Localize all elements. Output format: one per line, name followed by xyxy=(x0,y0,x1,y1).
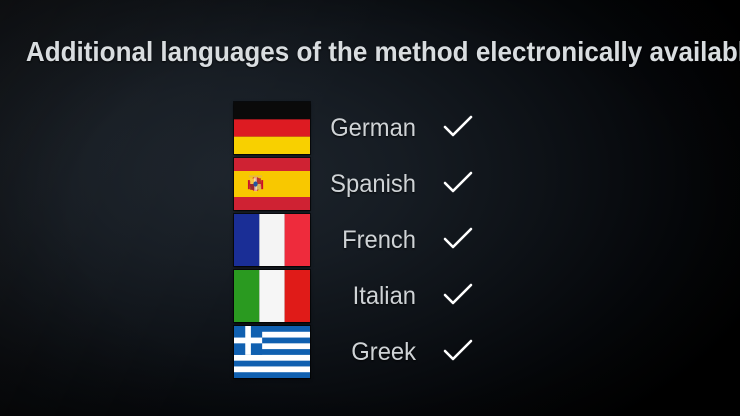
check-icon xyxy=(443,170,473,196)
check-icon xyxy=(443,226,473,252)
flag-germany-icon xyxy=(234,102,310,154)
list-item[interactable]: Italian xyxy=(0,268,740,324)
language-label: Italian xyxy=(325,282,416,311)
flag-spain xyxy=(234,158,310,210)
flag-greece-icon xyxy=(234,326,310,378)
page-title: Additional languages of the method elect… xyxy=(26,36,714,68)
flag-greece xyxy=(234,326,310,378)
check-icon-glyph xyxy=(443,170,473,196)
flag-france xyxy=(234,214,310,266)
flag-italy xyxy=(234,270,310,322)
list-item[interactable]: Spanish xyxy=(0,156,740,212)
check-icon-glyph xyxy=(443,114,473,140)
slide-canvas: Additional languages of the method elect… xyxy=(0,0,740,416)
list-item[interactable]: German xyxy=(0,100,740,156)
check-icon-glyph xyxy=(443,282,473,308)
flag-germany xyxy=(234,102,310,154)
check-icon xyxy=(443,282,473,308)
check-icon xyxy=(443,114,473,140)
language-label: Spanish xyxy=(325,170,416,199)
flag-france-icon xyxy=(234,214,310,266)
language-label: French xyxy=(325,226,416,255)
check-icon xyxy=(443,338,473,364)
check-icon-glyph xyxy=(443,226,473,252)
language-label: German xyxy=(325,114,416,143)
flag-spain-icon xyxy=(234,158,310,210)
check-icon-glyph xyxy=(443,338,473,364)
list-item[interactable]: French xyxy=(0,212,740,268)
flag-italy-icon xyxy=(234,270,310,322)
list-item[interactable]: Greek xyxy=(0,324,740,380)
language-list: German xyxy=(0,100,740,380)
language-label: Greek xyxy=(325,338,416,367)
